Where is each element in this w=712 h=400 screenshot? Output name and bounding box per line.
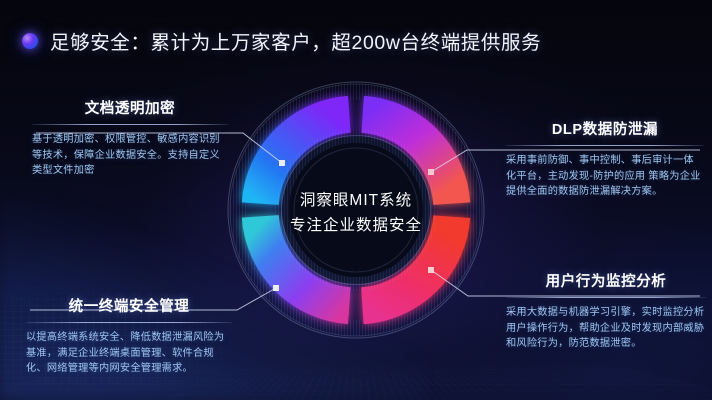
page-title: 足够安全：累计为上万家客户，超200w台终端提供服务 xyxy=(50,26,541,55)
center-title-line1: 洞察眼MIT系统 xyxy=(300,191,412,209)
center-title-line2: 专注企业数据安全 xyxy=(290,216,422,234)
callout-body-doc-encryption: 基于透明加密、权限管控、敏感内容识别等技术，保障企业数据安全。支持自定义类型文件… xyxy=(32,132,228,179)
callout-rule xyxy=(506,297,706,298)
callout-title-doc-encryption: 文档透明加密 xyxy=(32,97,228,118)
callout-rule xyxy=(506,145,704,146)
callout-unified-terminal[interactable]: 统一终端安全管理 以提高终端系统安全、降低数据泄漏风险为基准，满足企业终端桌面管… xyxy=(26,295,232,377)
callout-body-unified-terminal: 以提高终端系统安全、降低数据泄漏风险为基准，满足企业终端桌面管理、软件合规化、网… xyxy=(26,330,232,377)
slide-header: 足够安全：累计为上万家客户，超200w台终端提供服务 xyxy=(22,26,541,55)
callout-title-dlp: DLP数据防泄漏 xyxy=(506,118,704,139)
callout-dlp[interactable]: DLP数据防泄漏 采用事前防御、事中控制、事后审计一体化平台，主动发现-防护的应… xyxy=(506,118,704,200)
callout-doc-encryption[interactable]: 文档透明加密 基于透明加密、权限管控、敏感内容识别等技术，保障企业数据安全。支持… xyxy=(32,97,228,179)
gradient-dot-icon xyxy=(22,33,38,49)
callout-title-user-behavior: 用户行为监控分析 xyxy=(506,270,706,291)
callout-user-behavior[interactable]: 用户行为监控分析 采用大数据与机器学习引擎，实时监控分析用户操作行为，帮助企业及… xyxy=(506,270,706,352)
capability-donut-chart: 洞察眼MIT系统 专注企业数据安全 xyxy=(224,78,488,342)
callout-title-unified-terminal: 统一终端安全管理 xyxy=(26,295,232,316)
callout-body-dlp: 采用事前防御、事中控制、事后审计一体化平台，主动发现-防护的应用 策略为企业提供… xyxy=(506,153,704,200)
callout-body-user-behavior: 采用大数据与机器学习引擎，实时监控分析用户操作行为，帮助企业及时发现内部威胁和风… xyxy=(506,305,706,352)
slide-canvas: 足够安全：累计为上万家客户，超200w台终端提供服务 xyxy=(0,0,712,400)
callout-rule xyxy=(26,322,232,323)
callout-rule xyxy=(32,124,228,125)
